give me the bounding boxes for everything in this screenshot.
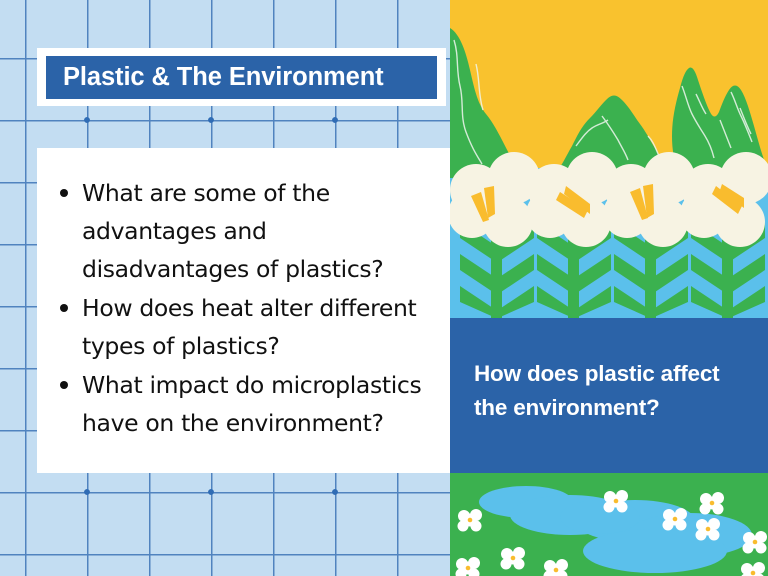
list-item-text: What impact do microplastics have on the…	[82, 371, 421, 437]
bullet-dot-icon	[60, 381, 68, 389]
list-item-text: How does heat alter different types of p…	[82, 294, 416, 360]
list-item-text: What are some of the advantages and disa…	[82, 179, 383, 283]
list-item: What impact do microplastics have on the…	[57, 366, 436, 442]
content-box: What are some of the advantages and disa…	[37, 148, 450, 473]
right-panel: How does plastic affect the environment?	[450, 0, 768, 576]
caption-box: How does plastic affect the environment?	[450, 318, 768, 473]
bullet-dot-icon	[60, 304, 68, 312]
title-frame: Plastic & The Environment	[37, 48, 446, 106]
bullet-dot-icon	[60, 189, 68, 197]
caption-text: How does plastic affect the environment?	[474, 357, 746, 425]
list-item: How does heat alter different types of p…	[57, 289, 436, 365]
list-item: What are some of the advantages and disa…	[57, 174, 436, 288]
page-title: Plastic & The Environment	[46, 56, 437, 99]
slide-canvas: Plastic & The Environment What are some …	[0, 0, 768, 576]
question-list: What are some of the advantages and disa…	[37, 148, 450, 442]
mountain-lake-flowers-illustration	[450, 0, 768, 318]
title-bar: Plastic & The Environment	[46, 56, 437, 99]
meadow-pond-illustration	[450, 473, 768, 576]
